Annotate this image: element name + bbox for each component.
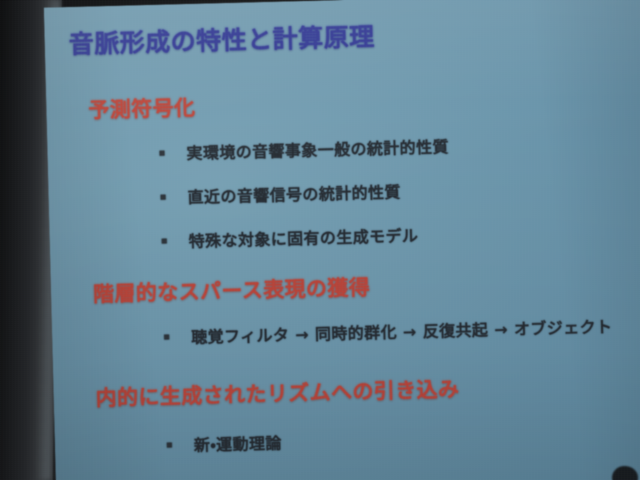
- bullet-square-icon: [164, 335, 169, 340]
- list-item: 実環境の音響事象一般の統計的性質: [159, 133, 449, 164]
- photo-stage: 音脈形成の特性と計算原理 予測符号化 実環境の音響事象一般の統計的性質 直近の音…: [0, 0, 640, 480]
- projection-screen: 音脈形成の特性と計算原理 予測符号化 実環境の音響事象一般の統計的性質 直近の音…: [44, 0, 640, 480]
- slide-title: 音脈形成の特性と計算原理: [68, 17, 375, 61]
- list-item: 直近の音響信号の統計的性質: [160, 179, 401, 209]
- section-heading-hierarchical-sparse: 階層的なスパース表現の獲得: [93, 271, 371, 308]
- slide-content: 音脈形成の特性と計算原理 予測符号化 実環境の音響事象一般の統計的性質 直近の音…: [44, 0, 640, 480]
- list-item: 新・運動理論: [167, 430, 282, 457]
- bullet-text: 実環境の音響事象一般の統計的性質: [186, 133, 449, 164]
- bullet-square-icon: [162, 239, 167, 244]
- section-heading-predictive-coding: 予測符号化: [88, 92, 196, 125]
- bullet-text: 直近の音響信号の統計的性質: [187, 179, 401, 208]
- bullet-square-icon: [161, 195, 166, 200]
- bullet-text: 聴覚フィルタ → 同時的群化 → 反復共起 → オブジェクト: [191, 313, 613, 348]
- bullet-text: 特殊な対象に固有の生成モデル: [188, 222, 418, 252]
- section-heading-internal-rhythm: 内的に生成されたリズムへの引き込み: [95, 373, 459, 412]
- bullet-square-icon: [159, 151, 164, 156]
- list-item: 特殊な対象に固有の生成モデル: [161, 222, 418, 252]
- bullet-text: 新・運動理論: [194, 430, 282, 456]
- list-item: 聴覚フィルタ → 同時的群化 → 反復共起 → オブジェクト: [164, 313, 613, 348]
- bullet-square-icon: [167, 442, 172, 447]
